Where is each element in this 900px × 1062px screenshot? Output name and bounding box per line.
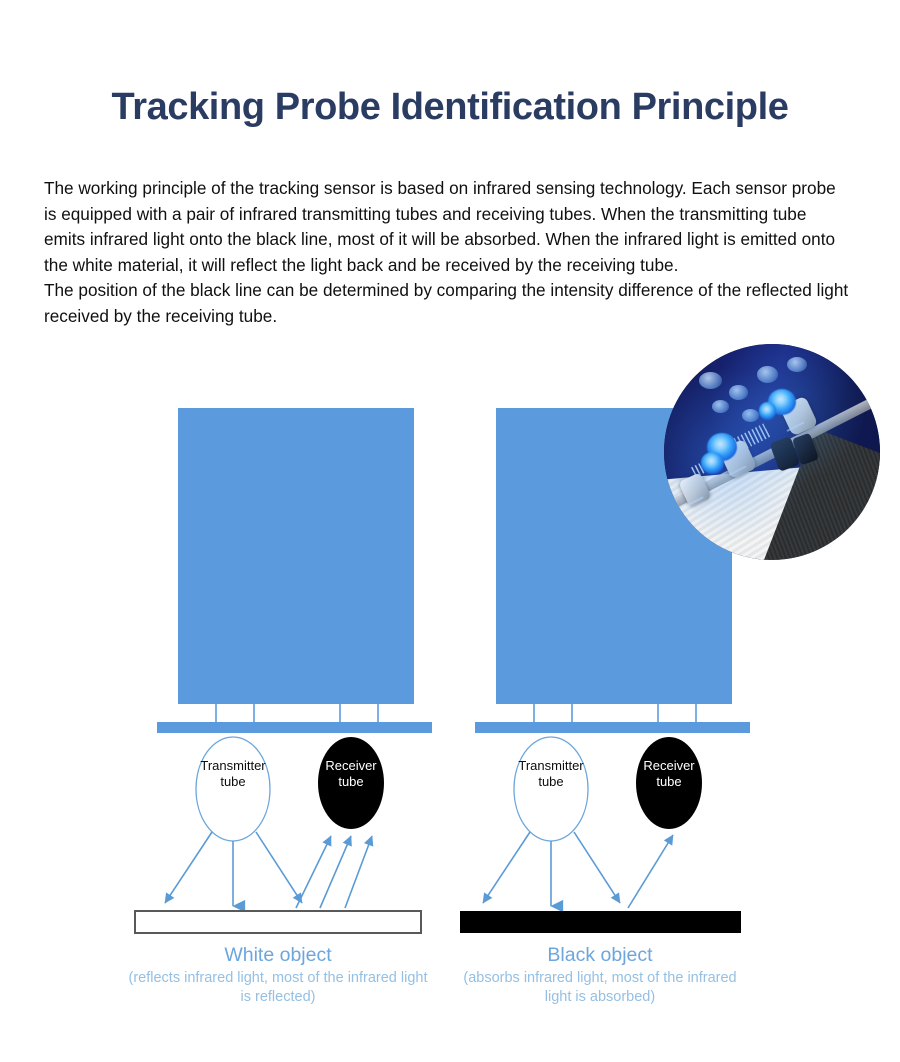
emitted-rays-right — [483, 832, 620, 906]
page-root: Tracking Probe Identification Principle … — [0, 0, 900, 1062]
emitted-rays-left — [165, 832, 302, 906]
white-object-caption: White object — [138, 944, 418, 967]
black-object-caption: Black object — [460, 944, 740, 967]
led-indicator — [759, 402, 776, 419]
sensor-strip-right — [475, 722, 750, 733]
white-object-caption-sub: (reflects infrared light, most of the in… — [128, 969, 428, 1007]
tracking-sensor-photo — [664, 344, 880, 560]
receiver-tube-label-left: Receiver tube — [311, 758, 391, 789]
solder-blob — [712, 400, 729, 413]
led-indicator — [701, 452, 725, 474]
transmitter-tube-right — [514, 737, 588, 841]
receiver-tube-label-right: Receiver tube — [629, 758, 709, 789]
solder-blob — [787, 357, 806, 372]
white-object-bar — [135, 911, 421, 933]
transmitter-tube-label-right: Transmitter tube — [501, 758, 601, 789]
board-pins-left — [216, 704, 378, 722]
transmitter-tube-label-left: Transmitter tube — [183, 758, 283, 789]
solder-blob — [742, 409, 759, 422]
black-object-bar — [460, 911, 741, 933]
white-object-diagram — [135, 408, 432, 933]
reflected-rays-left — [296, 836, 372, 908]
board-pins-right — [534, 704, 696, 722]
solder-blob — [757, 366, 779, 383]
photo-content — [664, 344, 880, 560]
black-object-caption-sub: (absorbs infrared light, most of the inf… — [450, 969, 750, 1007]
transmitter-tube-left — [196, 737, 270, 841]
sensor-strip-left — [157, 722, 432, 733]
reflected-rays-right — [628, 835, 673, 908]
sensor-board-left — [178, 408, 414, 704]
